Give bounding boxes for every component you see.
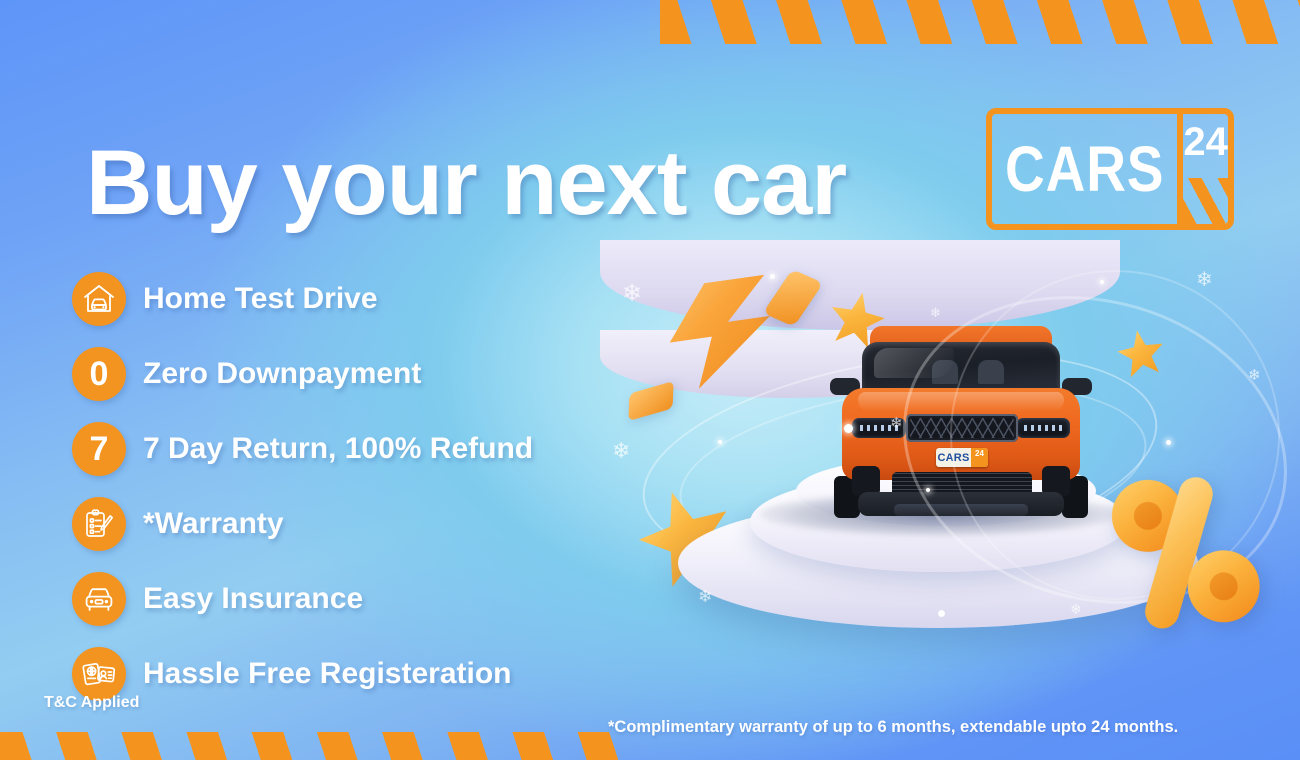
snowflake-icon: ❄ xyxy=(698,588,712,605)
feature-item-hassle-free-registration[interactable]: Hassle Free Registeration xyxy=(72,647,533,701)
diagonal-stripes-top-right xyxy=(660,0,1300,44)
documents-icon xyxy=(72,647,126,701)
zero-number-icon: 0 xyxy=(72,347,126,401)
percent-ring-bottom xyxy=(1184,547,1263,626)
feature-item-easy-insurance[interactable]: Easy Insurance xyxy=(72,572,533,626)
logo-stripes-icon xyxy=(1183,178,1228,224)
snowflake-icon: ❄ xyxy=(890,416,903,431)
sparkle-dot xyxy=(770,274,775,279)
feature-label: Home Test Drive xyxy=(143,282,378,316)
logo-number-panel: 24 xyxy=(1183,114,1228,224)
sparkle-dot xyxy=(926,488,930,492)
clipboard-pencil-icon xyxy=(72,497,126,551)
snowflake-icon: ❄ xyxy=(1196,270,1213,290)
logo-number: 24 xyxy=(1183,122,1228,162)
hero-illustration: CARS 24 ❄ ❄ ❄ ❄ ❄ ❄ ❄ ❄ xyxy=(600,240,1300,680)
cars24-logo[interactable]: CARS 24 xyxy=(986,108,1234,230)
feature-label: *Warranty xyxy=(143,507,284,541)
page-title: Buy your next car xyxy=(86,137,846,229)
sparkle-dot xyxy=(718,440,722,444)
percent-symbol-icon xyxy=(1104,461,1271,646)
feature-item-seven-day-return[interactable]: 7 7 Day Return, 100% Refund xyxy=(72,422,533,476)
feature-list: Home Test Drive 0 Zero Downpayment 7 7 D… xyxy=(72,272,533,701)
diagonal-stripes-bottom-left xyxy=(0,732,640,760)
snowflake-icon: ❄ xyxy=(1070,602,1082,616)
seven-number-icon: 7 xyxy=(72,422,126,476)
logo-wordmark: CARS xyxy=(1005,114,1164,224)
sparkle-dot xyxy=(1166,440,1171,445)
feature-label: Easy Insurance xyxy=(143,582,363,616)
snowflake-icon: ❄ xyxy=(622,282,642,306)
sparkle-dot xyxy=(844,424,853,433)
banner-stage: Buy your next car CARS 24 Home Test Driv… xyxy=(0,0,1300,760)
feature-label: Zero Downpayment xyxy=(143,357,421,391)
podium-highlight-dot xyxy=(938,610,945,617)
snowflake-icon: ❄ xyxy=(1248,368,1261,383)
snowflake-icon: ❄ xyxy=(930,306,941,319)
feature-item-home-test-drive[interactable]: Home Test Drive xyxy=(72,272,533,326)
snowflake-icon: ❄ xyxy=(612,440,630,462)
feature-label: Hassle Free Registeration xyxy=(143,657,511,691)
feature-label: 7 Day Return, 100% Refund xyxy=(143,432,533,466)
home-car-icon xyxy=(72,272,126,326)
badge-number: 7 xyxy=(90,432,109,466)
car-front-icon xyxy=(72,572,126,626)
badge-number: 0 xyxy=(90,357,109,391)
sparkle-dot xyxy=(1100,280,1104,284)
disclaimer-text: *Complimentary warranty of up to 6 month… xyxy=(608,718,1178,737)
feature-item-warranty[interactable]: *Warranty xyxy=(72,497,533,551)
lightning-bolt-fragment-icon xyxy=(628,381,673,421)
feature-item-zero-downpayment[interactable]: 0 Zero Downpayment xyxy=(72,347,533,401)
terms-text: T&C Applied xyxy=(44,694,139,712)
